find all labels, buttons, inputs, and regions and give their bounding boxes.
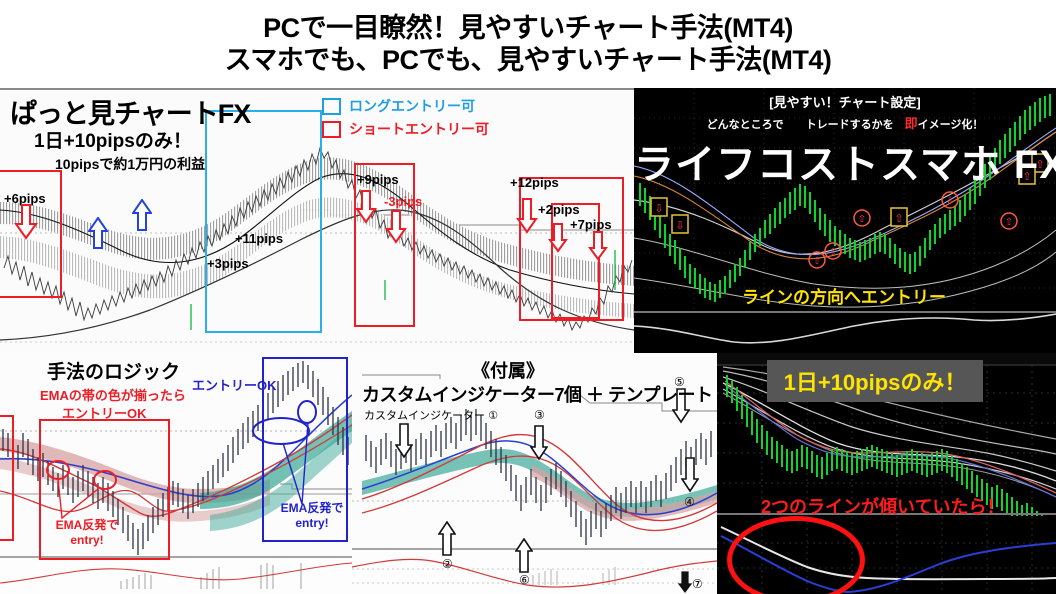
poster-root: PCで一目瞭然！見やすいチャート手法(MT4) スマホでも、PCでも、見やすいチ… — [0, 0, 1056, 594]
pip-label-minus3: -3pips — [384, 194, 422, 209]
botleft-note-red-2: エントリーOK — [62, 403, 147, 422]
short-arrow-down-4 — [516, 198, 538, 234]
svg-text:⇧: ⇧ — [813, 256, 821, 267]
panel-custom-indicators: 《付属》 カスタムインジケーター7個 ＋ テンプレート カスタムインジケーター … — [352, 353, 717, 594]
header-line-1: PCで一目瞭然！見やすいチャート手法(MT4) — [263, 13, 793, 43]
botleft-note-blue-ok: エントリーOK — [192, 375, 277, 394]
long-arrow-up-1 — [88, 217, 108, 249]
pip-label-plus3: +3pips — [207, 256, 249, 271]
topright-big-title: ライフコストスマホ FX — [634, 132, 1056, 190]
pip-label-plus12: +12pips — [510, 175, 559, 190]
short-zone-box-2 — [354, 163, 415, 327]
long-entry-box-icon — [322, 98, 341, 115]
indicator-arrow-4-down — [681, 457, 699, 493]
entry-legend: ロングエントリー可 ショートエントリー可 — [322, 96, 489, 142]
svg-text:⇧: ⇧ — [829, 247, 837, 258]
short-entry-box-icon — [322, 121, 341, 138]
header-line-2: スマホでも、PCでも、見やすいチャート手法(MT4) — [225, 45, 832, 75]
pip-label-plus9: +9pips — [357, 172, 399, 187]
marker-circle-3: ③ — [534, 408, 545, 422]
svg-text:⇩: ⇩ — [675, 220, 684, 232]
long-arrow-up-2 — [132, 199, 152, 231]
svg-text:⇩: ⇩ — [654, 203, 663, 215]
long-zone-box-1 — [205, 110, 322, 333]
topright-sub-emphasis: 即 — [905, 116, 918, 131]
botmid-sub-label: カスタムインジケーター ① — [364, 407, 498, 423]
topleft-subtitle-2: 10pipsで約1万円の利益 — [55, 154, 205, 174]
botmid-sub-label-text: カスタムインジケーター — [364, 410, 485, 422]
pip-label-plus7: +7pips — [570, 217, 612, 232]
short-arrow-down-6 — [588, 231, 608, 261]
svg-text:⇩: ⇩ — [946, 196, 954, 207]
panel-patto-mi-chart-fx: ぱっと見チャートFX 1日+10pipsのみ！ 10pipsで約1万円の利益 ロ… — [0, 88, 634, 355]
botmid-title-top: 《付属》 — [472, 357, 544, 383]
topright-sub-b: イメージ化！ — [918, 119, 984, 131]
pip-label-plus2: +2pips — [538, 202, 580, 217]
short-arrow-down-2 — [355, 190, 377, 224]
callout-red-line1: EMA反発で — [42, 518, 132, 533]
pip-label-plus11: +11pips — [235, 231, 283, 246]
indicator-arrow-1-down — [395, 423, 413, 459]
marker-circle-1: ① — [488, 410, 498, 422]
callout-red-line2: entry! — [42, 533, 132, 548]
botright-banner: 1日+10pipsのみ！ — [767, 360, 983, 402]
marker-circle-4: ④ — [684, 495, 695, 509]
botmid-title-main: カスタムインジケーター7個 ＋ テンプレート — [362, 381, 712, 407]
topright-sub-a: どんなところで トレードするかを — [707, 119, 905, 131]
indicator-arrow-2-up — [438, 521, 456, 557]
legend-label-long: ロングエントリー可 — [349, 96, 475, 116]
legend-row-long: ロングエントリー可 — [322, 96, 489, 116]
indicator-arrow-3-down — [530, 425, 548, 461]
marker-circle-5: ⑤ — [674, 375, 685, 389]
svg-text:⇧: ⇧ — [1005, 217, 1013, 228]
callout-blue-line1: EMA反発で — [273, 501, 351, 516]
page-header: PCで一目瞭然！見やすいチャート手法(MT4) スマホでも、PCでも、見やすいチ… — [0, 0, 1056, 88]
short-arrow-down-1 — [14, 204, 38, 240]
svg-text:⇧: ⇧ — [858, 214, 866, 225]
marker-circle-7: ⑦ — [692, 577, 703, 591]
botright-banner-text: 1日+10pipsのみ！ — [784, 365, 967, 397]
svg-text:⇧: ⇧ — [894, 213, 903, 225]
panel-shuho-logic: 手法のロジック EMAの帯の色が揃ったら エントリーOK エントリーOK EMA… — [0, 353, 352, 594]
indicator-arrow-7-down — [678, 571, 692, 593]
topright-yellow-note: ラインの方向へエントリー — [742, 283, 946, 308]
indicator-arrow-6-up — [515, 538, 533, 574]
botright-highlight-ellipse — [727, 516, 865, 594]
short-arrow-down-5 — [548, 223, 568, 253]
botleft-note-red-1: EMAの帯の色が揃ったら — [40, 385, 186, 404]
callout-blue-line2: entry! — [273, 516, 351, 531]
topright-subheadline: どんなところで トレードするかを 即イメージ化！ — [634, 113, 1056, 132]
topleft-subtitle: 1日+10pipsのみ！ — [34, 126, 192, 153]
marker-circle-2: ② — [442, 557, 453, 571]
legend-label-short: ショートエントリー可 — [349, 119, 489, 139]
short-arrow-down-3 — [385, 210, 407, 244]
legend-row-short: ショートエントリー可 — [322, 119, 489, 139]
botleft-title: 手法のロジック — [47, 357, 180, 384]
panel-two-lines-slope: 1日+10pipsのみ！ 2つのラインが傾いていたら！ — [717, 353, 1056, 594]
botleft-callout-blue: EMA反発で entry! — [273, 501, 351, 531]
topright-headline: [見やすい！チャート設定] — [634, 92, 1056, 111]
marker-circle-6: ⑥ — [519, 573, 530, 587]
botleft-callout-red: EMA反発で entry! — [42, 518, 132, 548]
panel-lifecost-sumaho-fx: ⇩ ⇩ ⇧ ⇧ ⇧ ⇧ ⇩ ⇧ ⇧ ⇧ — [634, 88, 1056, 353]
